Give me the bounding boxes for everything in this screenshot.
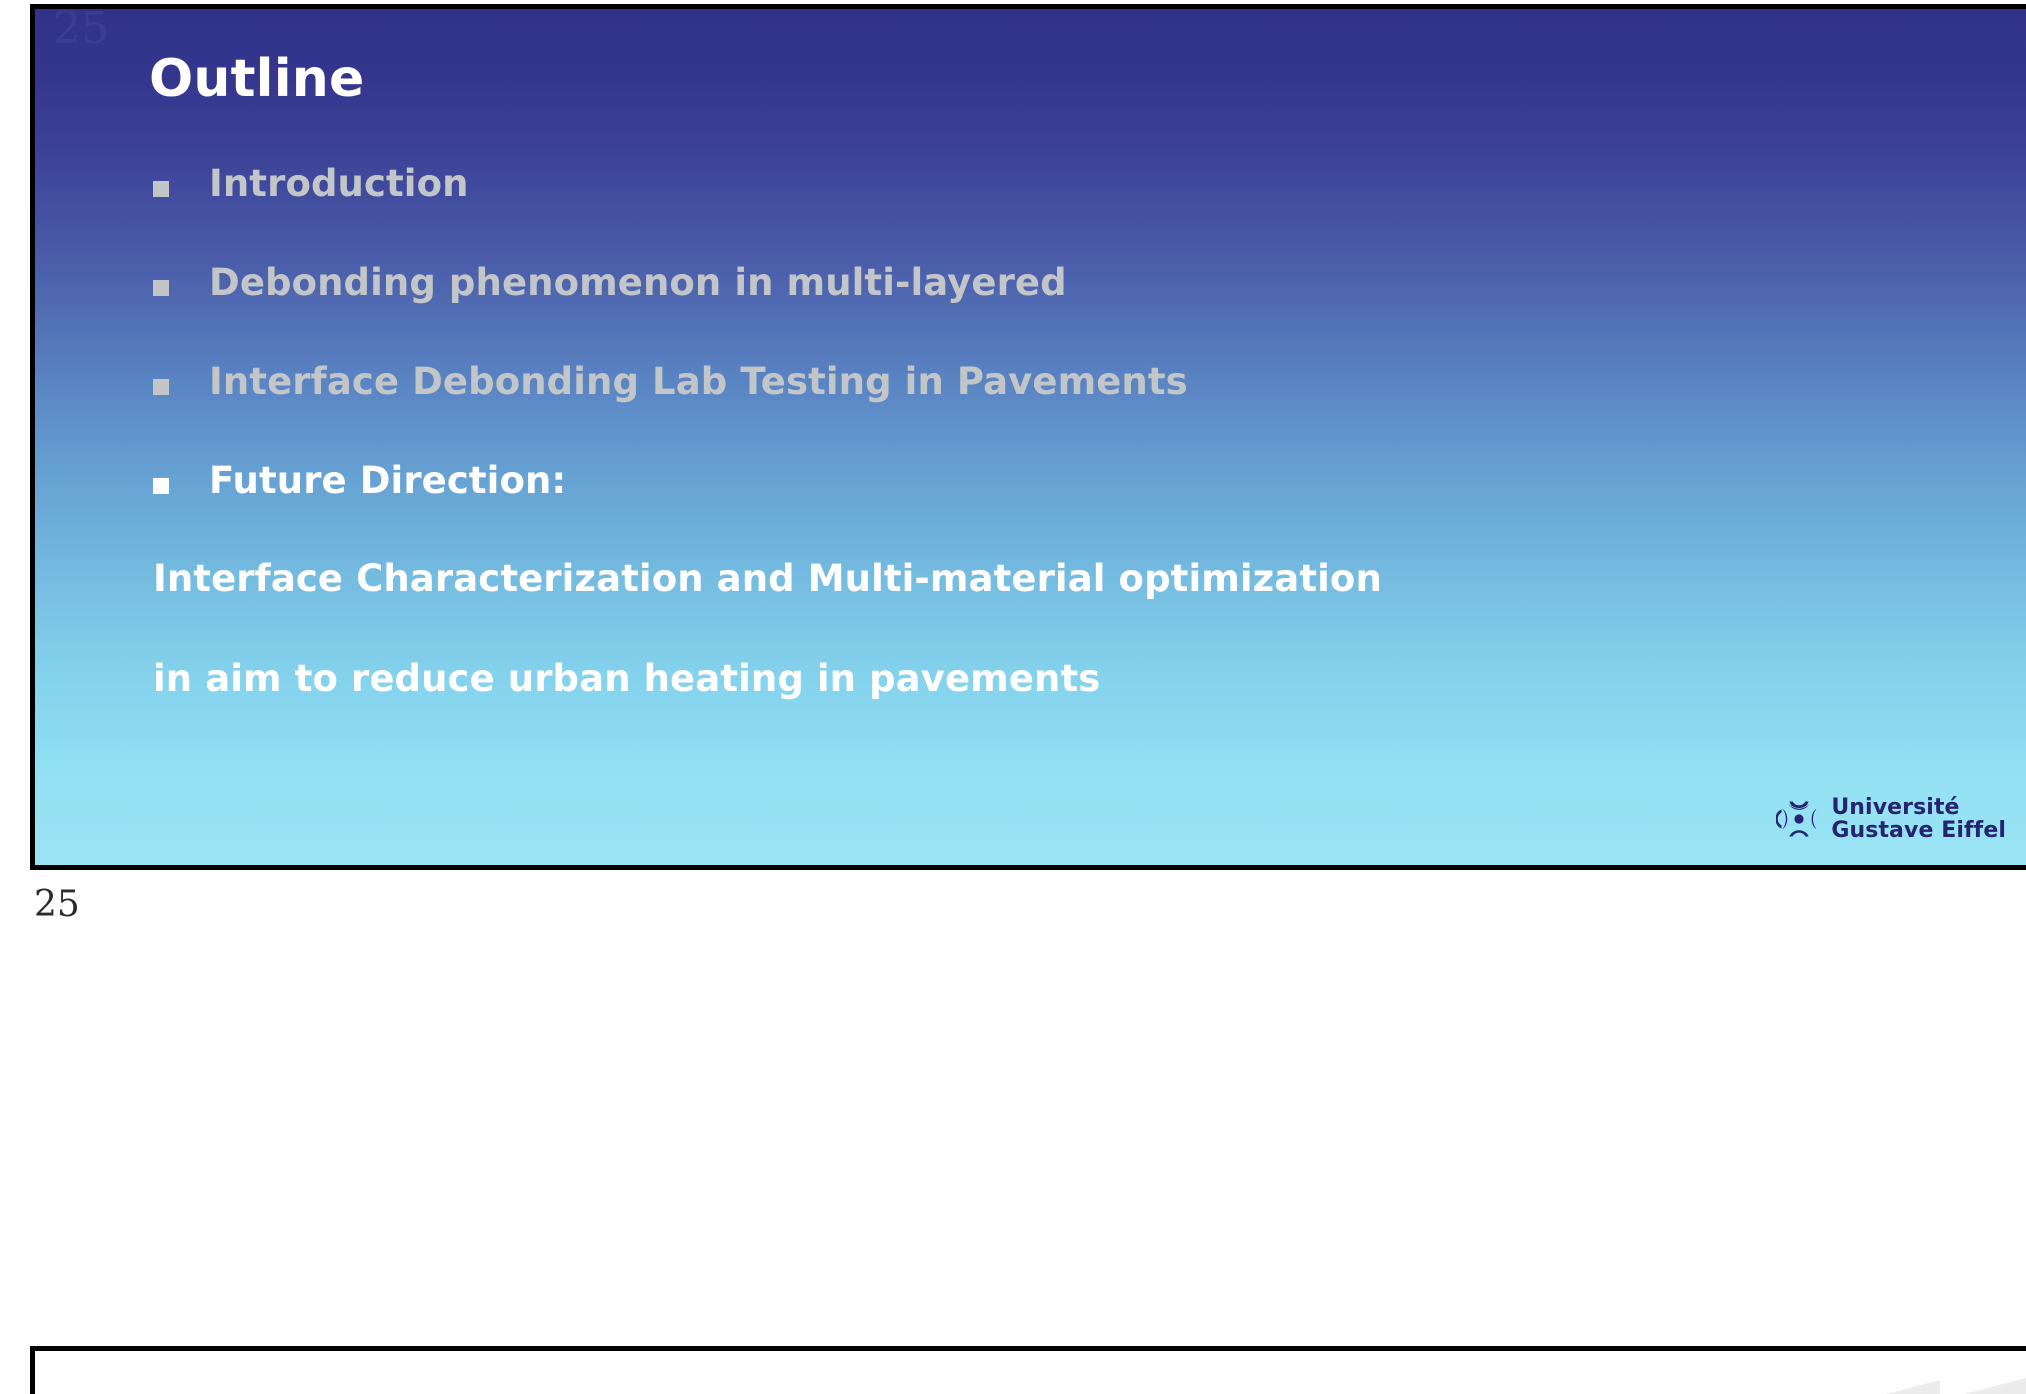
square-bullet-icon [153, 280, 169, 296]
next-slide-container[interactable] [30, 1346, 2026, 1394]
square-bullet-icon [153, 181, 169, 197]
list-item-label: Interface Debonding Lab Testing in Pavem… [209, 357, 1188, 407]
list-item-label: Debonding phenomenon in multi-layered [209, 258, 1067, 308]
list-item[interactable]: Debonding phenomenon in multi-layered [153, 258, 1953, 357]
body-text-block: Interface Characterization and Multi-mat… [153, 554, 1973, 754]
square-bullet-icon [153, 478, 169, 494]
list-item[interactable]: Introduction [153, 159, 1953, 258]
list-item[interactable]: Future Direction: [153, 456, 1953, 555]
university-gustave-eiffel-mark-icon [1776, 796, 1822, 842]
body-line: Interface Characterization and Multi-mat… [153, 554, 1973, 654]
page-curl-shadow [1886, 1380, 1940, 1394]
body-line: in aim to reduce urban heating in paveme… [153, 654, 1973, 754]
university-logo: Université Gustave Eiffel [1776, 796, 2006, 844]
list-item[interactable]: Interface Debonding Lab Testing in Pavem… [153, 357, 1953, 456]
slide-container[interactable]: 25 Outline Introduction Debonding phenom… [30, 4, 2026, 870]
logo-wordmark: Université Gustave Eiffel [1831, 796, 2006, 844]
page-title: Outline [149, 49, 364, 109]
slide-number-watermark: 25 [53, 4, 109, 54]
outline-bullet-list: Introduction Debonding phenomenon in mul… [153, 159, 1953, 555]
logo-line-1: Université [1831, 796, 2006, 820]
list-item-label: Introduction [209, 159, 469, 209]
logo-line-2: Gustave Eiffel [1831, 819, 2006, 843]
list-item-label: Future Direction: [209, 456, 566, 506]
square-bullet-icon [153, 379, 169, 395]
page-number: 25 [34, 884, 80, 925]
page-curl-shadow [1964, 1378, 2026, 1394]
